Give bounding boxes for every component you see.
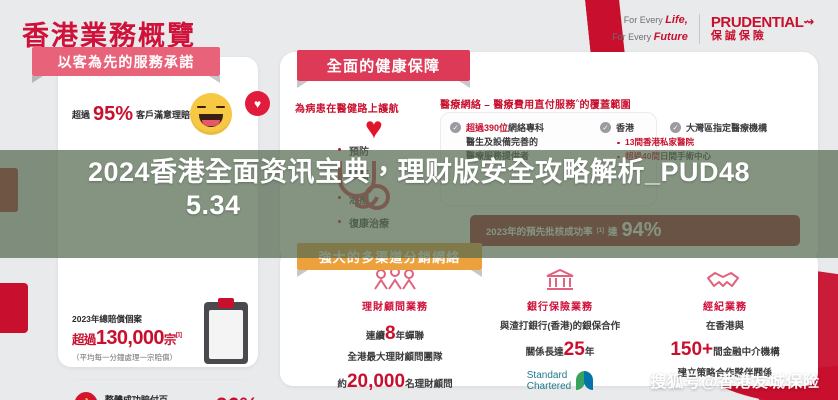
left-card-divider <box>74 379 246 380</box>
ribbon-service-promise: 以客為先的服務承諾 <box>32 47 220 76</box>
bottom-card-distribution: 理財顧問業務 連續8年蟬聯 全港最大理財顧問團隊 約20,000名理財顧問 銀行… <box>280 250 818 386</box>
hongkong-item-title: 香港 <box>616 123 634 133</box>
c1-l3-pre: 約 <box>337 379 347 390</box>
thumbs-up-icon: 👍 <box>74 392 98 400</box>
hongkong-bullet-1: 13間香港私家醫院 <box>617 136 780 150</box>
column-bancassurance: 銀行保險業務 與渣打銀行(香港)的銀保合作 關係長達25年 Standard C… <box>480 268 640 392</box>
clipboard-clip <box>218 298 234 308</box>
infographic-canvas: 香港業務概覽 For Every Life, For Every Future … <box>0 0 838 400</box>
handshake-icon <box>645 268 805 294</box>
sc-line-1: Standard <box>527 370 571 381</box>
red-chip-decoration-bottom <box>0 283 28 333</box>
payout-row: 👍 整體成功賠付百分比 [1] 達 96% <box>74 392 258 400</box>
network-heading-pre: 醫療網絡 – 醫療費用直付服務 <box>440 100 576 111</box>
claims-value: 130,000 <box>96 327 164 349</box>
bank-icon <box>480 268 640 294</box>
brand-divider <box>699 14 700 44</box>
column-1-line-2: 全港最大理財顧問團隊 <box>310 351 480 365</box>
smiley-eye-left <box>197 106 206 108</box>
sc-mark-blue <box>584 371 593 390</box>
mid-left-heading: 為病患在醫健路上護航 <box>295 100 399 115</box>
column-3-line-1: 在香港與 <box>645 320 805 334</box>
prudential-logo: PRUDENTIAL⇝ 保誠保險 <box>711 15 814 42</box>
network-heading-post: 的覆蓋範圍 <box>579 100 631 111</box>
brand-block: For Every Life, For Every Future PRUDENT… <box>612 12 814 45</box>
c1-l1-big: 8 <box>385 323 396 344</box>
standard-chartered-logo: Standard Chartered <box>480 370 640 392</box>
hk-bullet1-rest: 香港私家醫院 <box>643 137 694 147</box>
network-item-highlight: 超過390位 <box>466 123 508 133</box>
column-1-line-3: 約20,000名理財顧問 <box>310 368 480 397</box>
brand-tagline: For Every Life, For Every Future <box>612 12 688 45</box>
column-3-line-2: 150+間金融中介機構 <box>645 336 805 365</box>
c3-l2-big: 150+ <box>670 339 713 360</box>
claims-prefix: 超過 <box>72 333 96 347</box>
heart-ecg-icon: ♥ <box>365 114 401 146</box>
overlay-headline: 2024香港全面资讯宝典，理财版安全攻略解析_PUD48 5.34 <box>0 156 838 222</box>
payout-label: 整體成功賠付百分比 <box>105 393 177 400</box>
clipboard-sheet <box>209 310 243 359</box>
column-3-title: 經紀業務 <box>645 298 805 313</box>
network-item-line2: 醫生及設備完善的 <box>466 136 590 150</box>
satisfaction-prefix: 超過 <box>72 108 90 121</box>
column-brokerage: 經紀業務 在香港與 150+間金融中介機構 建立策略合作夥伴關係 <box>645 268 805 381</box>
ribbon-health-protection: 全面的健康保障 <box>297 50 470 81</box>
tagline-line-1: For Every Life, <box>612 12 688 29</box>
bank-svg <box>545 268 575 292</box>
people-group-icon <box>310 268 480 294</box>
standard-chartered-mark-icon <box>576 371 593 390</box>
tagline-word-future: Future <box>654 31 688 43</box>
smiley-face-icon <box>190 93 232 135</box>
heart-badge-icon: ♥ <box>245 91 270 116</box>
check-circle-icon-network: ✓ <box>450 122 461 133</box>
column-1-line-1: 連續8年蟬聯 <box>310 320 480 349</box>
clipboard-icon <box>204 302 248 364</box>
smiley-eye-right <box>216 106 225 108</box>
overlay-headline-line-2: 5.34 <box>46 189 792 222</box>
sc-line-2: Chartered <box>527 381 571 392</box>
c1-l1-post: 年蟬聯 <box>396 331 425 342</box>
c1-l3-big: 20,000 <box>347 371 405 392</box>
people-group-svg <box>372 268 418 292</box>
satisfaction-value: 95% <box>93 103 133 126</box>
brand-name: PRUDENTIAL <box>711 14 804 31</box>
tagline-word-life: Life, <box>665 14 688 26</box>
network-item-rest: 網絡專科 <box>508 123 544 133</box>
column-2-title: 銀行保險業務 <box>480 298 640 313</box>
c2-l2-post: 年 <box>585 347 595 358</box>
watermark: 搜狐号@香港友城保险 <box>650 368 820 392</box>
claims-footnote: [1] <box>176 332 182 338</box>
c3-l2-post: 間金融中介機構 <box>713 347 780 358</box>
hk-bullet1-hl: 13間 <box>625 137 643 147</box>
c1-l3-post: 名理財顧問 <box>405 379 453 390</box>
c2-l2-big: 25 <box>564 339 585 360</box>
brand-name-cn: 保誠保險 <box>711 30 767 42</box>
column-2-line-2: 關係長達25年 <box>480 336 640 365</box>
gba-item: ✓大灣區指定醫療機構 <box>670 122 820 136</box>
c1-l1-pre: 連續 <box>366 331 385 342</box>
gba-item-title: 大灣區指定醫療機構 <box>686 123 767 133</box>
handshake-svg <box>705 268 745 292</box>
column-2-line-1: 與渣打銀行(香港)的銀保合作 <box>480 320 640 334</box>
column-1-title: 理財顧問業務 <box>310 298 480 313</box>
prudential-swirl-icon: ⇝ <box>804 15 815 29</box>
claims-suffix: 宗 <box>164 333 176 347</box>
c2-l2-pre: 關係長達 <box>526 347 564 358</box>
network-heading: 醫療網絡 – 醫療費用直付服務^的覆蓋範圍 <box>440 96 631 111</box>
check-circle-icon-hk: ✓ <box>600 122 611 133</box>
tagline-line-2: For Every Future <box>612 29 688 46</box>
payout-value: 96% <box>216 394 258 400</box>
column-financial-advisory: 理財顧問業務 連續8年蟬聯 全港最大理財顧問團隊 約20,000名理財顧問 <box>310 268 480 396</box>
overlay-headline-line-1: 2024香港全面资讯宝典，理财版安全攻略解析_PUD48 <box>88 157 750 187</box>
check-circle-icon-gba: ✓ <box>670 122 681 133</box>
